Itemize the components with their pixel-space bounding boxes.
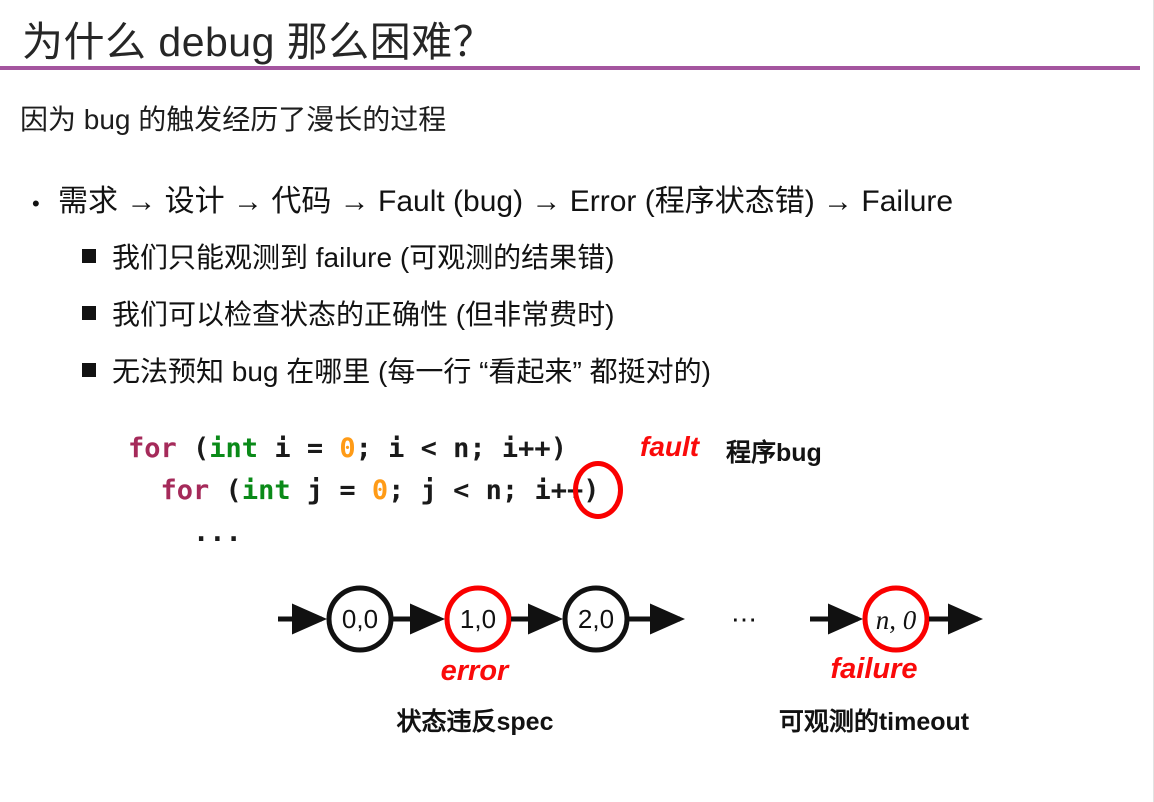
- diagram-ellipsis: ⋯: [731, 604, 757, 634]
- diagram-node-label: 2,0: [578, 604, 614, 634]
- diagram-node-1-0: 1,0: [447, 588, 509, 650]
- code-init: i =: [258, 433, 339, 464]
- code-keyword-for: for: [128, 433, 177, 464]
- code-type-int: int: [209, 433, 258, 464]
- code-ellipsis-line: ...: [128, 517, 242, 548]
- code-number-zero: 0: [372, 475, 388, 506]
- bullet-item-chain: • 需求 → 设计 → 代码 → Fault (bug) → Error (程序…: [32, 176, 953, 220]
- code-number-zero: 0: [339, 433, 355, 464]
- code-keyword-for: for: [161, 475, 210, 506]
- diagram-node-label: 1,0: [460, 604, 496, 634]
- fault-label: fault: [640, 431, 699, 463]
- code-cond-incr: ; i < n; i++): [356, 433, 567, 464]
- diagram-node-2-0: 2,0: [565, 588, 627, 650]
- bullet-marker-square: [82, 306, 96, 320]
- code-punct: (: [177, 433, 210, 464]
- bullet-item-unknown-bug: 无法预知 bug 在哪里 (每一行 “看起来” 都挺对的): [82, 350, 711, 390]
- bullet-text-unknown-bug: 无法预知 bug 在哪里 (每一行 “看起来” 都挺对的): [112, 350, 711, 390]
- error-label: error: [392, 655, 557, 688]
- diagram-node-0-0: 0,0: [329, 588, 391, 650]
- code-type-int: int: [242, 475, 291, 506]
- diagram-node-n-0: n, 0: [865, 588, 927, 650]
- slide-subtitle: 因为 bug 的触发经历了漫长的过程: [20, 98, 446, 138]
- bullet-text-observe-failure: 我们只能观测到 failure (可观测的结果错): [112, 236, 614, 276]
- code-init: j =: [291, 475, 372, 506]
- slide-canvas: 为什么 debug 那么困难？ 因为 bug 的触发经历了漫长的过程 • 需求 …: [0, 0, 1154, 802]
- page-title: 为什么 debug 那么困难？: [22, 8, 494, 68]
- code-punct: (: [209, 475, 242, 506]
- bullet-item-check-state: 我们可以检查状态的正确性 (但非常费时): [82, 293, 614, 333]
- bullet-item-observe-failure: 我们只能观测到 failure (可观测的结果错): [82, 236, 614, 276]
- code-snippet: for (int i = 0; i < n; i++) for (int j =…: [128, 428, 599, 554]
- bullet-marker-square: [82, 363, 96, 377]
- fault-note: 程序bug: [726, 433, 822, 469]
- failure-label: failure: [790, 653, 958, 686]
- code-cond-incr-bug: ; j < n; i++): [388, 475, 599, 506]
- failure-caption: 可观测的timeout: [758, 702, 990, 738]
- bug-highlight-ellipse: [573, 461, 623, 519]
- bullet-marker-square: [82, 249, 96, 263]
- bullet-marker-dot: •: [32, 193, 58, 215]
- error-caption: 状态违反spec: [370, 702, 580, 738]
- title-divider: [0, 66, 1140, 70]
- code-indent: [128, 475, 161, 506]
- diagram-node-label: n, 0: [876, 605, 917, 635]
- bullet-text-check-state: 我们可以检查状态的正确性 (但非常费时): [112, 293, 614, 333]
- diagram-node-label: 0,0: [342, 604, 378, 634]
- bullet-text-chain: 需求 → 设计 → 代码 → Fault (bug) → Error (程序状态…: [58, 176, 953, 220]
